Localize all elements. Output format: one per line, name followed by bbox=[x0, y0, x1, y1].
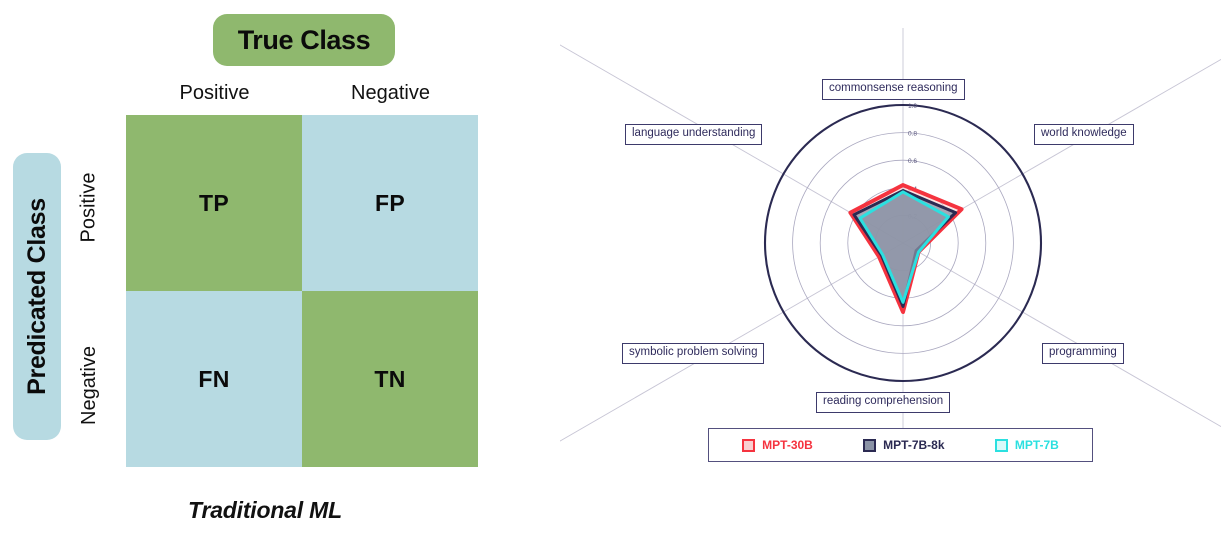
column-header-negative: Negative bbox=[303, 82, 478, 105]
matrix-cell-tn: TN bbox=[302, 291, 478, 467]
radar-tick-label: 0.8 bbox=[908, 131, 917, 138]
axis-label-reading-comprehension: reading comprehension bbox=[816, 392, 950, 413]
predicated-class-label: Predicated Class bbox=[23, 198, 52, 395]
predicated-class-badge: Predicated Class bbox=[13, 153, 61, 440]
figure-root: True Class Predicated Class Positive Neg… bbox=[0, 0, 1221, 543]
matrix-cell-fp: FP bbox=[302, 115, 478, 291]
legend-label-mpt-7b: MPT-7B bbox=[1015, 438, 1059, 452]
legend-item-mpt-30b: MPT-30B bbox=[742, 438, 813, 452]
chart-legend: MPT-30B MPT-7B-8k MPT-7B bbox=[708, 428, 1093, 462]
axis-label-symbolic-problem-solving: symbolic problem solving bbox=[622, 343, 764, 364]
legend-label-mpt-7b-8k: MPT-7B-8k bbox=[883, 438, 944, 452]
confusion-matrix-panel: True Class Predicated Class Positive Neg… bbox=[0, 0, 530, 543]
left-panel-caption: Traditional ML bbox=[0, 497, 530, 524]
true-class-label: True Class bbox=[238, 25, 371, 56]
right-panel-caption: Evaluating LLMs bbox=[1120, 497, 1221, 524]
legend-swatch-mpt-7b-8k bbox=[863, 439, 876, 452]
legend-item-mpt-7b-8k: MPT-7B-8k bbox=[863, 438, 944, 452]
axis-label-programming: programming bbox=[1042, 343, 1124, 364]
true-class-badge: True Class bbox=[213, 14, 395, 66]
row-header-negative-text: Negative bbox=[78, 346, 101, 425]
legend-swatch-mpt-30b bbox=[742, 439, 755, 452]
radar-tick-label: 1.0 bbox=[908, 103, 917, 110]
row-header-negative: Negative bbox=[72, 296, 106, 474]
matrix-cell-fn: FN bbox=[126, 291, 302, 467]
radar-chart-panel: 0.20.40.60.81.0 commonsense reasoning wo… bbox=[560, 0, 1221, 543]
legend-swatch-mpt-7b bbox=[995, 439, 1008, 452]
matrix-cell-tp: TP bbox=[126, 115, 302, 291]
axis-label-language-understanding: language understanding bbox=[625, 124, 762, 145]
axis-label-world-knowledge: world knowledge bbox=[1034, 124, 1134, 145]
confusion-matrix-grid: TP FP FN TN bbox=[126, 115, 478, 467]
row-header-positive-text: Positive bbox=[78, 172, 101, 242]
axis-label-commonsense-reasoning: commonsense reasoning bbox=[822, 79, 965, 100]
row-header-positive: Positive bbox=[72, 118, 106, 296]
legend-item-mpt-7b: MPT-7B bbox=[995, 438, 1059, 452]
radar-tick-label: 0.6 bbox=[908, 158, 917, 165]
column-header-positive: Positive bbox=[127, 82, 302, 105]
legend-label-mpt-30b: MPT-30B bbox=[762, 438, 813, 452]
